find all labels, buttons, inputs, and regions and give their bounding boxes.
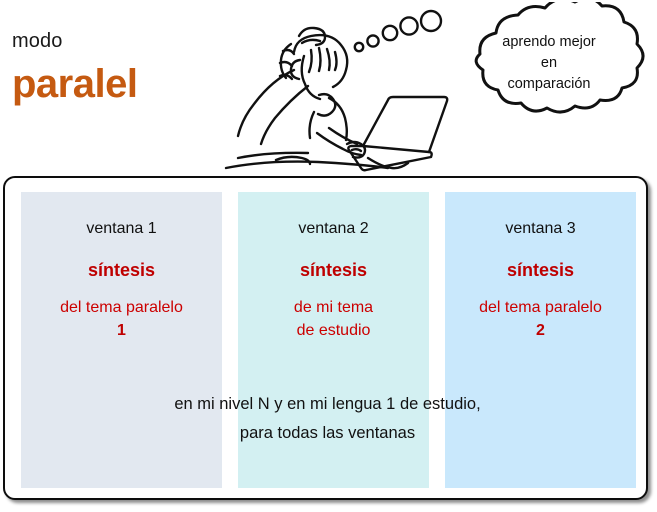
window-desc-1-line2: 1 xyxy=(21,319,222,342)
window-panel-3-body: ventana 3 síntesis del tema paralelo 2 xyxy=(445,192,636,342)
window-label-1: ventana 1 xyxy=(21,219,222,238)
window-desc-2-line2: de estudio xyxy=(238,319,429,342)
window-desc-2: de mi tema de estudio xyxy=(238,296,429,342)
thought-bubble-text: aprendo mejor en comparación xyxy=(466,32,632,95)
window-desc-1: del tema paralelo 1 xyxy=(21,296,222,342)
thought-line-2: en xyxy=(466,53,632,74)
parallel-mode-frame: ventana 1 síntesis del tema paralelo 1 v… xyxy=(3,176,648,500)
caption-line-1: en mi nivel N y en mi lengua 1 de estudi… xyxy=(5,390,650,419)
frame-caption: en mi nivel N y en mi lengua 1 de estudi… xyxy=(5,390,650,448)
window-heading-1: síntesis xyxy=(21,260,222,282)
header-region: modo paralel xyxy=(0,0,657,176)
student-at-laptop-illustration xyxy=(216,0,456,176)
window-desc-1-line1: del tema paralelo xyxy=(21,296,222,319)
window-heading-2: síntesis xyxy=(238,260,429,282)
mode-label: modo xyxy=(12,30,222,52)
window-label-3: ventana 3 xyxy=(445,219,636,238)
thought-line-1: aprendo mejor xyxy=(466,32,632,53)
windows-panel-group: ventana 1 síntesis del tema paralelo 1 v… xyxy=(5,178,646,498)
window-heading-3: síntesis xyxy=(445,260,636,282)
window-desc-3: del tema paralelo 2 xyxy=(445,296,636,342)
mode-name: paralel xyxy=(12,62,222,106)
window-desc-3-line2: 2 xyxy=(445,319,636,342)
window-desc-2-line1: de mi tema xyxy=(238,296,429,319)
title-block: modo paralel xyxy=(12,30,222,106)
window-label-2: ventana 2 xyxy=(238,219,429,238)
window-panel-1-body: ventana 1 síntesis del tema paralelo 1 xyxy=(21,192,222,342)
caption-line-2: para todas las ventanas xyxy=(5,419,650,448)
thought-line-3: comparación xyxy=(466,74,632,95)
window-desc-3-line1: del tema paralelo xyxy=(445,296,636,319)
window-panel-2-body: ventana 2 síntesis de mi tema de estudio xyxy=(238,192,429,342)
thought-bubble: aprendo mejor en comparación xyxy=(440,2,657,134)
